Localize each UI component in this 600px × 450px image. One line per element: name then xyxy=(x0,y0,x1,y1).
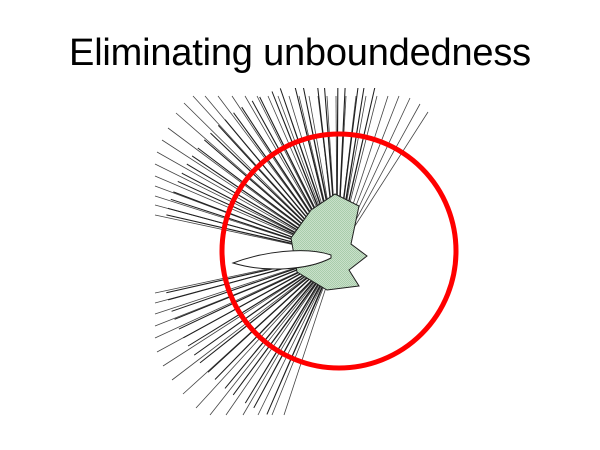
unbounded-region-diagram xyxy=(0,0,600,450)
slide-canvas: Eliminating unboundedness xyxy=(0,0,600,450)
figure-container xyxy=(0,0,600,450)
